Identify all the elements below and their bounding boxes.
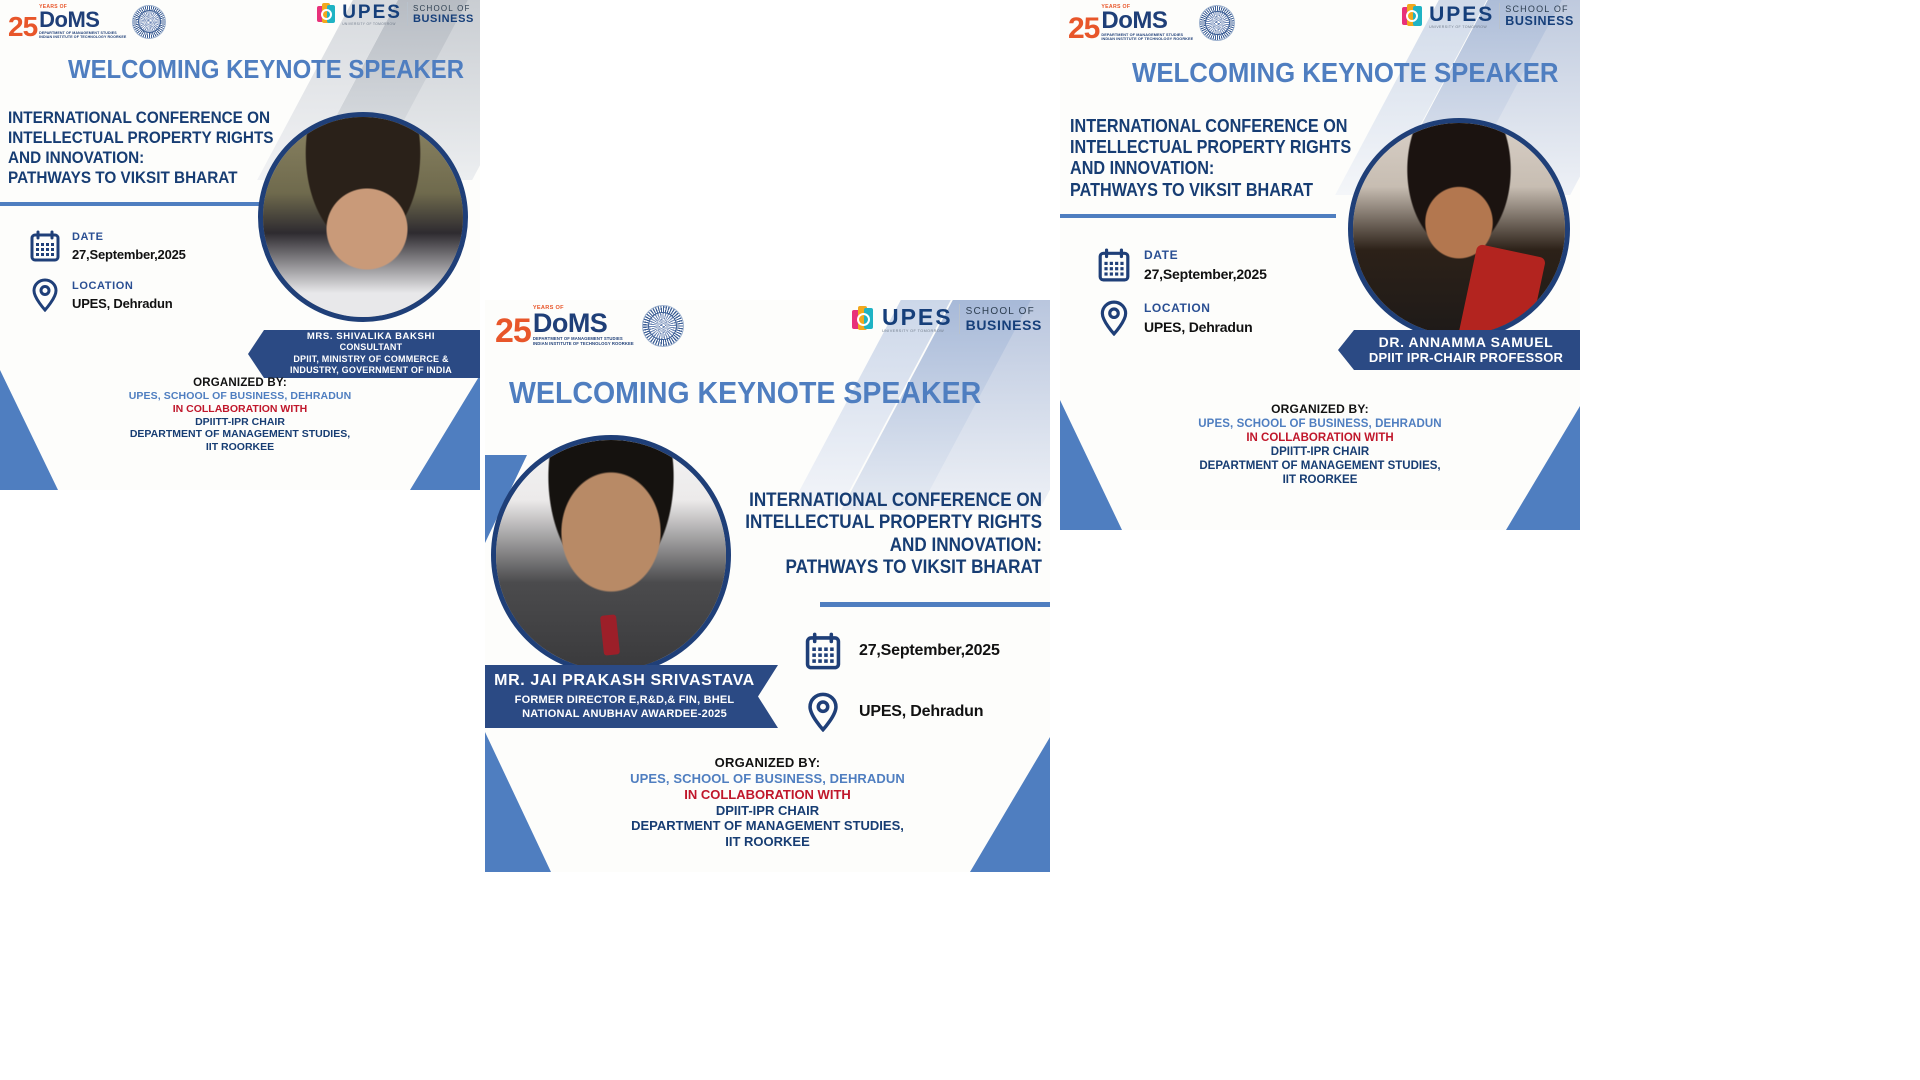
collaborator-chair: DPIITT-IPR CHAIR [1060,445,1580,459]
event-details: 27,September,2025 UPES, Dehradun [805,632,1000,732]
card-jai-prakash-srivastava: 25 YEARS OF DoMS DEPARTMENT OF MANAGEMEN… [485,300,1050,872]
upes-school-line2: BUSINESS [413,13,474,25]
card-annamma-samuel: 25 YEARS OF DoMS DEPARTMENT OF MANAGEMEN… [1060,0,1580,530]
upes-school-line2: BUSINESS [1505,14,1574,28]
doms-sub2: INDIAN INSTITUTE OF TECHNOLOGY ROORKEE [533,342,634,347]
conference-line-1: INTERNATIONAL CONFERENCE ON [745,490,1042,512]
conference-line-4: PATHWAYS TO VIKSIT BHARAT [8,168,274,188]
conference-line-1: INTERNATIONAL CONFERENCE ON [1070,116,1351,137]
doms-years-number: 25 [1068,15,1099,42]
iit-roorkee-seal-icon [642,305,684,347]
upes-school-line1: SCHOOL OF [1505,4,1574,14]
organized-by-label: ORGANIZED BY: [1060,402,1580,417]
collaborator-dept: DEPARTMENT OF MANAGEMENT STUDIES, [485,818,1050,834]
speaker-name: DR. ANNAMMA SAMUEL [1379,334,1554,350]
conference-title: INTERNATIONAL CONFERENCE ON INTELLECTUAL… [1070,116,1351,201]
location-value: UPES, Dehradun [859,703,983,721]
location-pin-icon [30,278,60,312]
doms-logo-icon: 25 YEARS OF DoMS DEPARTMENT OF MANAGEMEN… [495,305,634,346]
title-underline [820,602,1050,607]
calendar-icon [805,632,841,670]
date-value: 27,September,2025 [1144,266,1267,282]
organizer-name: UPES, SCHOOL OF BUSINESS, DEHRADUN [0,390,480,403]
title-underline [1060,214,1336,218]
conference-line-2: INTELLECTUAL PROPERTY RIGHTS [1070,137,1351,158]
speaker-role-2: DPIIT, MINISTRY OF COMMERCE & [293,354,448,366]
conference-line-3: AND INNOVATION: [745,535,1042,557]
location-label: LOCATION [72,280,173,292]
event-details: DATE 27,September,2025 LOCATION UPES, De… [30,230,186,312]
card-shivalika-bakshi: 25 YEARS OF DoMS DEPARTMENT OF MANAGEMEN… [0,0,480,490]
upes-wordmark: UPES [1429,4,1494,25]
conference-line-4: PATHWAYS TO VIKSIT BHARAT [1070,180,1351,201]
location-value: UPES, Dehradun [72,296,173,311]
date-label: DATE [1144,248,1267,262]
location-pin-icon [1098,300,1130,336]
upes-school-line1: SCHOOL OF [966,306,1042,317]
date-row: DATE 27,September,2025 [1098,248,1267,282]
conference-title: INTERNATIONAL CONFERENCE ON INTELLECTUAL… [745,490,1042,580]
event-details: DATE 27,September,2025 LOCATION UPES, De… [1098,248,1267,336]
doms-years-number: 25 [8,14,37,39]
doms-name: DoMS [533,311,634,337]
organized-by-block: ORGANIZED BY: UPES, SCHOOL OF BUSINESS, … [485,755,1050,850]
screenshot-canvas: 25 YEARS OF DoMS DEPARTMENT OF MANAGEMEN… [0,0,1920,1080]
title-underline [0,202,260,206]
date-value: 27,September,2025 [72,247,186,262]
calendar-icon [1098,248,1130,282]
conference-line-2: INTELLECTUAL PROPERTY RIGHTS [8,128,274,148]
speaker-photo [1348,118,1570,340]
doms-logo-icon: 25 YEARS OF DoMS DEPARTMENT OF MANAGEMEN… [1068,4,1193,42]
collaboration-label: IN COLLABORATION WITH [0,403,480,416]
iit-roorkee-seal-icon [132,5,166,39]
upes-logo-icon: UPES UNIVERSITY OF TOMORROW SCHOOL OF BU… [852,304,1042,334]
speaker-name: MRS. SHIVALIKA BAKSHI [307,331,435,342]
organizer-name: UPES, SCHOOL OF BUSINESS, DEHRADUN [485,771,1050,787]
conference-line-3: AND INNOVATION: [1070,158,1351,179]
date-row: 27,September,2025 [805,632,1000,670]
speaker-role-1: DPIIT IPR-CHAIR PROFESSOR [1369,350,1563,367]
doms-sub2: INDIAN INSTITUTE OF TECHNOLOGY ROORKEE [1101,37,1193,41]
organizer-name: UPES, SCHOOL OF BUSINESS, DEHRADUN [1060,417,1580,431]
speaker-name-band: MRS. SHIVALIKA BAKSHI CONSULTANT DPIIT, … [248,330,480,378]
page-title: WELCOMING KEYNOTE SPEAKER [68,54,464,85]
collaborator-institute: IIT ROORKEE [1060,473,1580,487]
collaborator-chair: DPIITT-IPR CHAIR [0,416,480,429]
organized-by-block: ORGANIZED BY: UPES, SCHOOL OF BUSINESS, … [1060,402,1580,487]
doms-logo-group: 25 YEARS OF DoMS DEPARTMENT OF MANAGEMEN… [8,4,166,39]
speaker-role-2: NATIONAL ANUBHAV AWARDEE-2025 [522,707,727,721]
location-pin-icon [805,692,841,732]
collaboration-label: IN COLLABORATION WITH [485,787,1050,803]
collaborator-institute: IIT ROORKEE [485,834,1050,850]
date-row: DATE 27,September,2025 [30,230,186,262]
upes-wordmark: UPES [342,3,402,22]
page-title: WELCOMING KEYNOTE SPEAKER [509,375,981,411]
location-row: UPES, Dehradun [805,692,1000,732]
conference-line-2: INTELLECTUAL PROPERTY RIGHTS [745,512,1042,534]
iit-roorkee-seal-icon [1199,5,1235,41]
date-value: 27,September,2025 [859,642,1000,660]
doms-logo-icon: 25 YEARS OF DoMS DEPARTMENT OF MANAGEMEN… [8,4,126,39]
organized-by-label: ORGANIZED BY: [485,755,1050,771]
location-label: LOCATION [1144,301,1252,315]
upes-school-line2: BUSINESS [966,317,1042,333]
organized-by-block: ORGANIZED BY: UPES, SCHOOL OF BUSINESS, … [0,376,480,454]
collaborator-chair: DPIIT-IPR CHAIR [485,803,1050,819]
upes-logo-icon: UPES UNIVERSITY OF TOMORROW SCHOOL OF BU… [1402,3,1574,29]
conference-line-3: AND INNOVATION: [8,148,274,168]
speaker-name-band: DR. ANNAMMA SAMUEL DPIIT IPR-CHAIR PROFE… [1338,330,1580,370]
location-value: UPES, Dehradun [1144,319,1252,335]
page-title: WELCOMING KEYNOTE SPEAKER [1132,57,1559,89]
collaborator-institute: IIT ROORKEE [0,441,480,454]
upes-school-line1: SCHOOL OF [413,4,474,13]
doms-logo-group: 25 YEARS OF DoMS DEPARTMENT OF MANAGEMEN… [495,305,684,347]
speaker-photo [491,435,731,675]
location-row: LOCATION UPES, Dehradun [1098,300,1267,336]
upes-tagline: UNIVERSITY OF TOMORROW [342,22,402,26]
upes-logo-icon: UPES UNIVERSITY OF TOMORROW SCHOOL OF BU… [317,2,474,26]
location-row: LOCATION UPES, Dehradun [30,278,186,312]
upes-wordmark: UPES [882,306,953,329]
conference-title: INTERNATIONAL CONFERENCE ON INTELLECTUAL… [8,108,274,188]
doms-sub2: INDIAN INSTITUTE OF TECHNOLOGY ROORKEE [39,35,126,39]
doms-logo-group: 25 YEARS OF DoMS DEPARTMENT OF MANAGEMEN… [1068,4,1235,42]
date-label: DATE [72,231,186,243]
speaker-photo [258,112,468,322]
upes-tagline: UNIVERSITY OF TOMORROW [882,329,953,333]
speaker-name: MR. JAI PRAKASH SRIVASTAVA [494,672,755,690]
collaborator-dept: DEPARTMENT OF MANAGEMENT STUDIES, [0,428,480,441]
organized-by-label: ORGANIZED BY: [0,376,480,390]
upes-tagline: UNIVERSITY OF TOMORROW [1429,25,1494,29]
calendar-icon [30,230,60,262]
doms-years-number: 25 [495,316,531,347]
conference-line-1: INTERNATIONAL CONFERENCE ON [8,108,274,128]
doms-name: DoMS [1101,10,1193,33]
collaborator-dept: DEPARTMENT OF MANAGEMENT STUDIES, [1060,459,1580,473]
conference-line-4: PATHWAYS TO VIKSIT BHARAT [745,557,1042,579]
speaker-name-band: MR. JAI PRAKASH SRIVASTAVA FORMER DIRECT… [485,665,778,728]
doms-name: DoMS [39,10,126,31]
speaker-role-1: FORMER DIRECTOR E,R&D,& FIN, BHEL [515,693,735,707]
collaboration-label: IN COLLABORATION WITH [1060,431,1580,445]
speaker-role-1: CONSULTANT [340,342,403,354]
